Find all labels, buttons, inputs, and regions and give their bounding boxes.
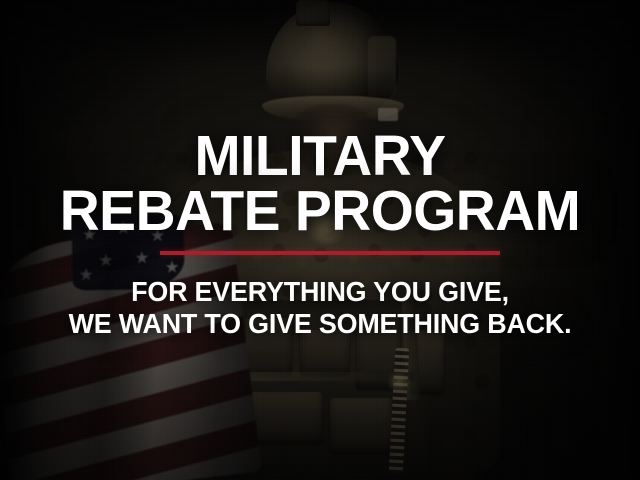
- military-rebate-program-poster: ★ ★ ★ ★ ★ ★ ★ MILITARY REBATE PROGRAM FO…: [0, 0, 640, 480]
- subheadline-line-2: WE WANT TO GIVE SOMETHING BACK.: [13, 307, 627, 340]
- red-divider-rule: [160, 251, 500, 255]
- headline-line-2: REBATE PROGRAM: [10, 184, 631, 240]
- poster-text-overlay: MILITARY REBATE PROGRAM FOR EVERYTHING Y…: [0, 0, 640, 480]
- subheadline-line-1: FOR EVERYTHING YOU GIVE,: [13, 275, 627, 308]
- headline-line-1: MILITARY: [10, 129, 631, 185]
